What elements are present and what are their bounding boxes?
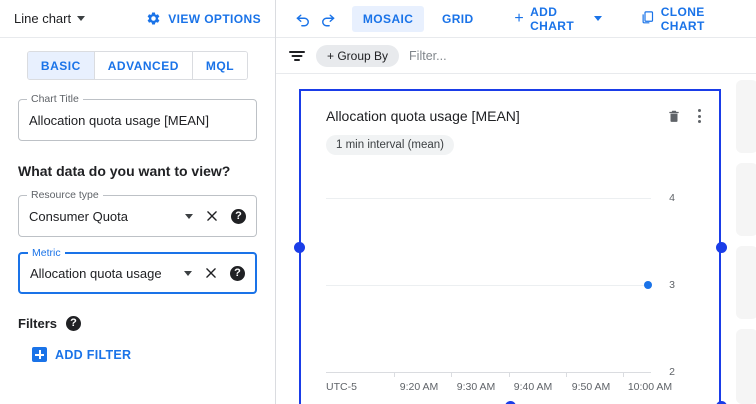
metric-value: Allocation quota usage — [30, 266, 178, 281]
chart-title-legend: Chart Title — [27, 93, 83, 105]
layout-grid-label: GRID — [442, 12, 474, 26]
kebab-menu-icon[interactable] — [697, 108, 701, 124]
layout-grid-button[interactable]: GRID — [431, 6, 485, 32]
trash-icon[interactable] — [667, 108, 681, 124]
help-icon[interactable]: ? — [66, 316, 81, 331]
ytick-label-4: 4 — [669, 192, 675, 204]
layout-mosaic-label: MOSAIC — [363, 12, 413, 26]
filter-icon[interactable] — [288, 49, 306, 63]
help-icon[interactable]: ? — [231, 209, 246, 224]
view-options-label: VIEW OPTIONS — [168, 12, 261, 26]
dashboard-canvas: Allocation quota usage [MEAN] — [276, 75, 756, 404]
tab-mql[interactable]: MQL — [193, 52, 247, 79]
ytick-label-3: 3 — [669, 279, 675, 291]
chart-type-label: Line chart — [14, 11, 71, 26]
interval-chip: 1 min interval (mean) — [326, 135, 454, 155]
help-icon[interactable]: ? — [230, 266, 245, 281]
tab-basic[interactable]: BASIC — [28, 52, 95, 79]
tab-advanced-label: ADVANCED — [108, 59, 179, 73]
editor-tabs: BASIC ADVANCED MQL — [27, 51, 248, 80]
chart-title-field[interactable]: Chart Title Allocation quota usage [MEAN… — [18, 99, 257, 141]
chart-card-selection[interactable]: Allocation quota usage [MEAN] — [299, 89, 721, 404]
group-by-chip[interactable]: + Group By — [316, 45, 399, 67]
clone-chart-button[interactable]: CLONE CHART — [632, 5, 742, 33]
groupby-filter-bar: + Group By Filter... — [276, 38, 756, 74]
resize-handle-left[interactable] — [294, 242, 305, 253]
resource-type-actions: ? — [179, 209, 246, 224]
xtick-label-3: 9:50 AM — [572, 381, 611, 393]
x-tick — [394, 372, 395, 377]
chart-title-value: Allocation quota usage [MEAN] — [29, 113, 246, 128]
xtick-label-0: 9:20 AM — [400, 381, 439, 393]
plus-icon — [32, 347, 47, 362]
tab-basic-label: BASIC — [41, 59, 81, 73]
data-section-heading: What data do you want to view? — [18, 163, 257, 179]
resource-type-field[interactable]: Resource type Consumer Quota ? — [18, 195, 257, 237]
app-root: Line chart VIEW OPTIONS BASIC ADVANCED — [0, 0, 756, 404]
redo-button[interactable] — [315, 4, 340, 34]
chevron-down-icon[interactable] — [184, 271, 192, 276]
gridline-y-3 — [326, 285, 651, 286]
x-axis-line — [326, 372, 651, 373]
x-tick — [509, 372, 510, 377]
undo-button[interactable] — [290, 4, 315, 34]
chevron-down-icon — [77, 16, 85, 21]
xtick-label-2: 9:40 AM — [514, 381, 553, 393]
tab-mql-label: MQL — [206, 59, 234, 73]
filters-section: Filters ? — [18, 316, 257, 331]
gear-icon — [146, 11, 161, 26]
xtick-label-1: 9:30 AM — [457, 381, 496, 393]
metric-actions: ? — [178, 266, 245, 281]
gridline-y-4 — [326, 198, 651, 199]
ytick-label-2: 2 — [669, 366, 675, 378]
xtick-label-4: 10:00 AM — [628, 381, 672, 393]
x-tick — [451, 372, 452, 377]
x-tick — [623, 372, 624, 377]
adjacent-card-peek[interactable] — [736, 329, 756, 404]
add-chart-button[interactable]: + ADD CHART — [506, 5, 610, 33]
add-filter-label: ADD FILTER — [55, 348, 131, 362]
x-tick — [566, 372, 567, 377]
resource-type-value: Consumer Quota — [29, 209, 179, 224]
view-options-button[interactable]: VIEW OPTIONS — [146, 11, 261, 26]
layout-mosaic-button[interactable]: MOSAIC — [352, 6, 424, 32]
chart-type-dropdown[interactable]: Line chart — [14, 11, 85, 26]
metric-field[interactable]: Metric Allocation quota usage ? — [18, 252, 257, 294]
chart-card-header: Allocation quota usage [MEAN] — [301, 91, 719, 155]
close-icon[interactable] — [204, 266, 218, 280]
dashboard-panel: MOSAIC GRID + ADD CHART CLONE — [276, 0, 756, 404]
tab-advanced[interactable]: ADVANCED — [95, 52, 193, 79]
editor-header: Line chart VIEW OPTIONS — [0, 0, 275, 38]
clone-chart-label: CLONE CHART — [661, 5, 734, 33]
data-point — [644, 281, 652, 289]
close-icon[interactable] — [205, 209, 219, 223]
metric-legend: Metric — [28, 247, 65, 259]
chevron-down-icon[interactable] — [185, 214, 193, 219]
chart-card-title-row: Allocation quota usage [MEAN] — [326, 107, 701, 125]
chart-card-title: Allocation quota usage [MEAN] — [326, 107, 520, 125]
chart-plot-area: 4 3 2 UTC-5 9:20 — [301, 169, 719, 404]
add-filter-button[interactable]: ADD FILTER — [18, 347, 257, 362]
adjacent-card-peek[interactable] — [736, 163, 756, 236]
chart-card-actions — [667, 107, 701, 124]
copy-icon — [640, 10, 655, 28]
adjacent-card-peek[interactable] — [736, 80, 756, 153]
dashboard-toolbar: MOSAIC GRID + ADD CHART CLONE — [276, 0, 756, 38]
add-chart-label: ADD CHART — [530, 5, 588, 33]
editor-tabs-row: BASIC ADVANCED MQL — [0, 38, 275, 80]
timezone-label: UTC-5 — [326, 381, 357, 393]
resource-type-legend: Resource type — [27, 189, 103, 201]
chart-card[interactable]: Allocation quota usage [MEAN] — [299, 89, 721, 404]
plus-icon: + — [514, 11, 524, 27]
group-by-label: + Group By — [327, 49, 388, 63]
chart-editor-panel: Line chart VIEW OPTIONS BASIC ADVANCED — [0, 0, 276, 404]
chevron-down-icon — [594, 16, 602, 21]
adjacent-card-peek[interactable] — [736, 246, 756, 319]
filter-input[interactable]: Filter... — [409, 49, 447, 63]
resize-handle-right[interactable] — [716, 242, 727, 253]
filters-label: Filters — [18, 316, 57, 331]
